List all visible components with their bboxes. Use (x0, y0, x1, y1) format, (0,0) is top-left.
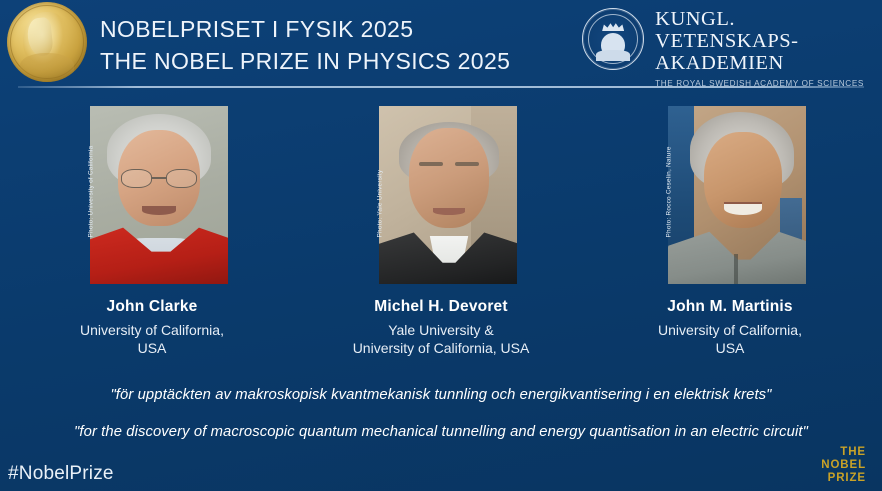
portrait-frame: Photo: University of California (76, 106, 228, 284)
academy-wordmark: KUNGL. VETENSKAPS- AKADEMIEN THE ROYAL S… (655, 6, 864, 88)
laureate-name: Michel H. Devoret (374, 298, 507, 316)
affiliation-line-2: University of California, USA (353, 339, 530, 357)
citation-english: "for the discovery of macroscopic quantu… (0, 424, 882, 440)
title-swedish: NOBELPRISET I FYSIK 2025 (100, 14, 510, 44)
header-divider (18, 86, 864, 88)
laureate-name: John Clarke (107, 298, 198, 316)
affiliation-line-1: University of California, (658, 321, 802, 339)
header: NOBELPRISET I FYSIK 2025 THE NOBEL PRIZE… (0, 0, 882, 92)
laureates-row: Photo: University of California John Cla… (0, 106, 882, 357)
citation-swedish: "för upptäckten av makroskopisk kvantmek… (0, 387, 882, 403)
glasses-icon (121, 169, 197, 188)
portrait-brows (419, 162, 479, 166)
portrait-frame: Photo: Rocco Ceselin, Nature (654, 106, 806, 284)
laureate-affiliation: University of California, USA (658, 321, 802, 357)
nobel-prize-logo: THE NOBEL PRIZE (821, 446, 866, 485)
laureate-card: Photo: Yale University Michel H. Devoret… (341, 106, 541, 357)
portrait-mouth (724, 202, 762, 215)
academy-line-1: KUNGL. (655, 8, 864, 30)
seal-bust-icon (601, 33, 625, 57)
laureate-name: John M. Martinis (667, 298, 792, 316)
logo-line-3: PRIZE (821, 472, 866, 485)
photo-credit: Photo: Yale University (377, 106, 384, 238)
laureate-affiliation: Yale University & University of Californ… (353, 321, 530, 357)
laureate-card: Photo: Rocco Ceselin, Nature John M. Mar… (630, 106, 830, 357)
academy-line-3: AKADEMIEN (655, 52, 864, 74)
portrait-mouth (433, 208, 465, 215)
affiliation-line-2: USA (658, 339, 802, 357)
royal-academy-seal-icon (582, 8, 644, 70)
portrait-frame: Photo: Yale University (365, 106, 517, 284)
royal-academy-logo: KUNGL. VETENSKAPS- AKADEMIEN THE ROYAL S… (582, 6, 864, 88)
affiliation-line-2: USA (80, 339, 224, 357)
portrait-sweater (90, 224, 228, 284)
nobel-prize-announcement-card: NOBELPRISET I FYSIK 2025 THE NOBEL PRIZE… (0, 0, 882, 491)
title-block: NOBELPRISET I FYSIK 2025 THE NOBEL PRIZE… (100, 14, 510, 76)
laureate-affiliation: University of California, USA (80, 321, 224, 357)
portrait-shirt-placket (734, 254, 738, 284)
logo-line-1: THE (821, 446, 866, 459)
portrait-photo (90, 106, 228, 284)
medal-shoulder (20, 53, 74, 80)
logo-line-2: NOBEL (821, 459, 866, 472)
affiliation-line-1: Yale University & (353, 321, 530, 339)
photo-credit: Photo: University of California (88, 106, 95, 238)
photo-credit: Photo: Rocco Ceselin, Nature (666, 106, 673, 238)
laureate-card: Photo: University of California John Cla… (52, 106, 252, 357)
portrait-mouth (142, 206, 176, 215)
title-english: THE NOBEL PRIZE IN PHYSICS 2025 (100, 46, 510, 76)
portrait-photo (379, 106, 517, 284)
affiliation-line-1: University of California, (80, 321, 224, 339)
nobel-medal-icon (7, 2, 87, 82)
academy-line-2: VETENSKAPS- (655, 30, 864, 52)
hashtag: #NobelPrize (8, 463, 114, 485)
portrait-photo (668, 106, 806, 284)
